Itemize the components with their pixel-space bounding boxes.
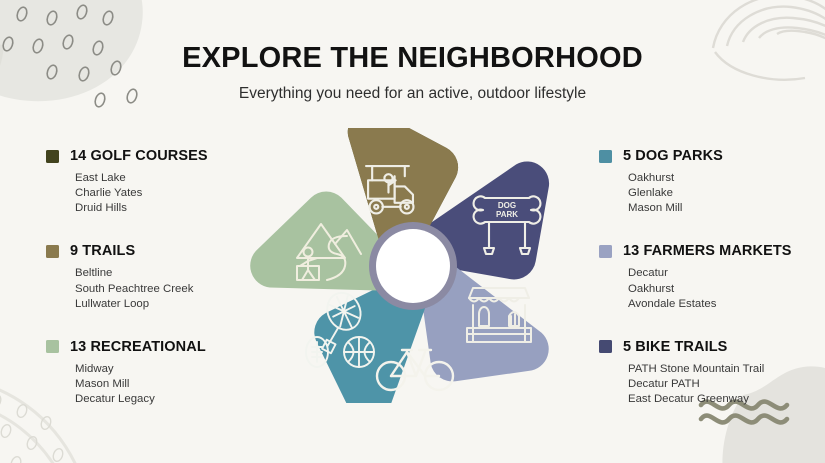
dog-sign-line1: DOG — [498, 201, 516, 210]
legend-title-bike-trails: 5 BIKE TRAILS — [623, 339, 727, 355]
pinwheel-diagram: DOG PARK — [243, 128, 583, 403]
header: EXPLORE THE NEIGHBORHOOD Everything you … — [0, 42, 825, 104]
legend-header: 5 BIKE TRAILS — [599, 339, 825, 355]
legend-title-golf-courses: 14 GOLF COURSES — [70, 148, 208, 164]
legend-column-right: 5 DOG PARKS Oakhurst Glenlake Mason Mill… — [599, 148, 825, 407]
legend-group-bike-trails[interactable]: 5 BIKE TRAILS PATH Stone Mountain Trail … — [599, 339, 825, 407]
legend-group-dog-parks[interactable]: 5 DOG PARKS Oakhurst Glenlake Mason Mill — [599, 148, 825, 216]
legend-title-dog-parks: 5 DOG PARKS — [623, 148, 723, 164]
legend-items-farmers-markets: Decatur Oakhurst Avondale Estates — [599, 266, 825, 311]
legend-header: 5 DOG PARKS — [599, 148, 825, 164]
color-swatch-farmers-markets — [599, 245, 612, 258]
page-subtitle: Everything you need for an active, outdo… — [0, 85, 825, 104]
list-item: Decatur — [628, 266, 825, 281]
list-item: Decatur PATH — [628, 377, 825, 392]
legend-title-recreational: 13 RECREATIONAL — [70, 339, 206, 355]
color-swatch-dog-parks — [599, 150, 612, 163]
color-swatch-golf-courses — [46, 150, 59, 163]
color-swatch-trails — [46, 245, 59, 258]
list-item: East Decatur Greenway — [628, 392, 825, 407]
list-item: Glenlake — [628, 186, 825, 201]
pinwheel-hub[interactable] — [369, 222, 457, 310]
legend-title-farmers-markets: 13 FARMERS MARKETS — [623, 243, 792, 259]
legend-items-dog-parks: Oakhurst Glenlake Mason Mill — [599, 171, 825, 216]
list-item: Mason Mill — [628, 201, 825, 216]
legend-group-farmers-markets[interactable]: 13 FARMERS MARKETS Decatur Oakhurst Avon… — [599, 243, 825, 311]
page-title: EXPLORE THE NEIGHBORHOOD — [0, 42, 825, 75]
color-swatch-bike-trails — [599, 340, 612, 353]
legend-items-bike-trails: PATH Stone Mountain Trail Decatur PATH E… — [599, 362, 825, 407]
legend-title-trails: 9 TRAILS — [70, 243, 135, 259]
dog-sign-line2: PARK — [496, 210, 518, 219]
list-item: PATH Stone Mountain Trail — [628, 362, 825, 377]
legend-header: 13 FARMERS MARKETS — [599, 243, 825, 259]
list-item: Oakhurst — [628, 171, 825, 186]
list-item: Oakhurst — [628, 282, 825, 297]
list-item: Avondale Estates — [628, 297, 825, 312]
color-swatch-recreational — [46, 340, 59, 353]
slide-canvas: EXPLORE THE NEIGHBORHOOD Everything you … — [0, 0, 825, 463]
